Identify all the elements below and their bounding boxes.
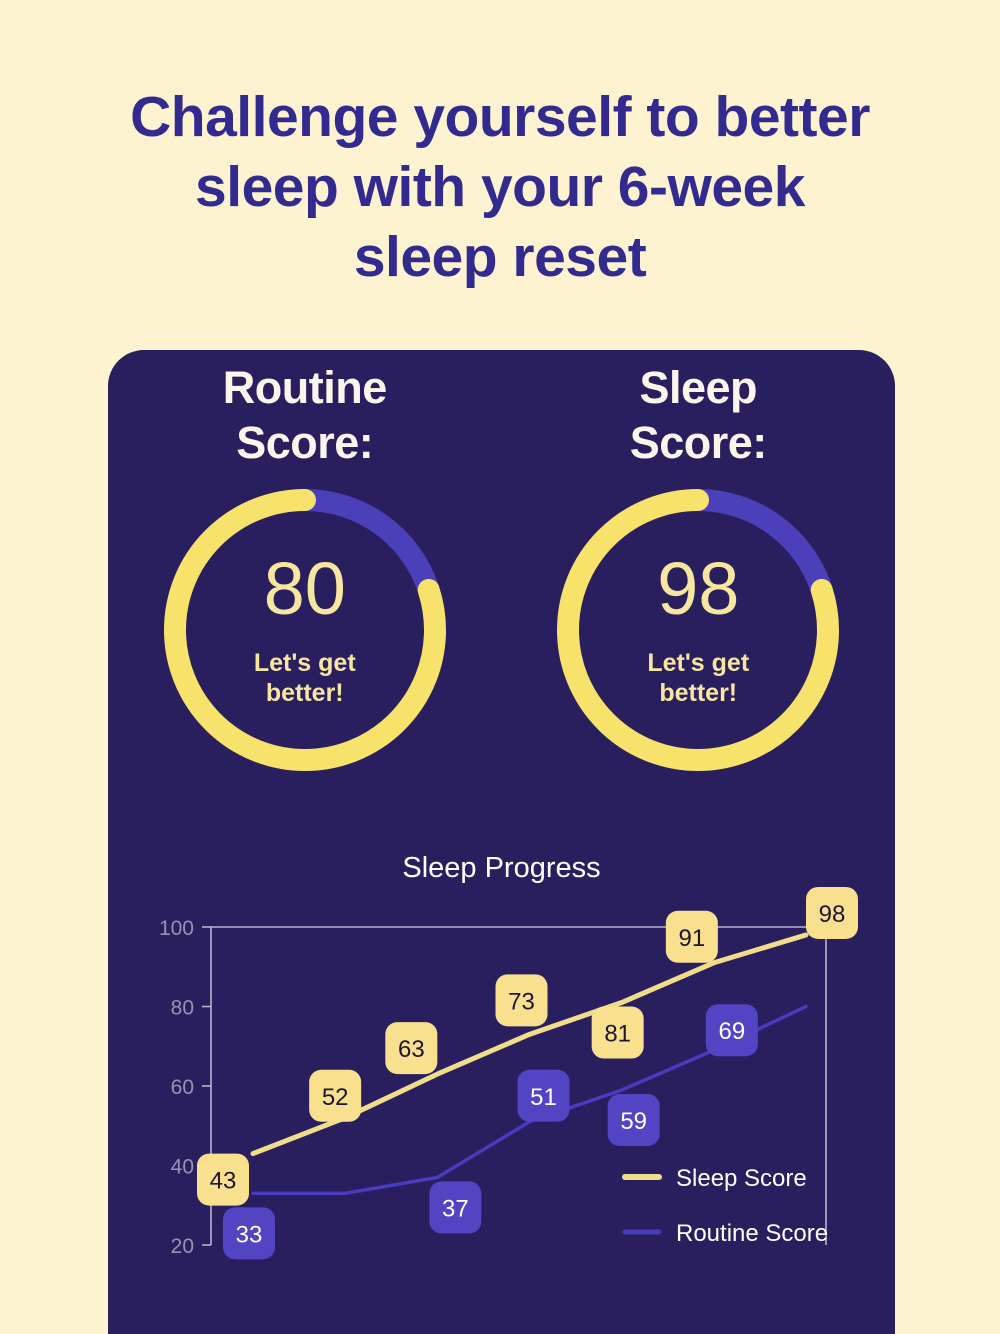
legend-item-sleep-score[interactable]: Sleep Score [625, 1165, 807, 1192]
routine-score-block: Routine Score: 80 Let's get better [108, 350, 502, 820]
svg-text:73: 73 [508, 988, 535, 1015]
svg-text:43: 43 [210, 1168, 237, 1195]
sleep-score-block: Sleep Score: 98 Let's get better! [502, 350, 896, 820]
svg-text:52: 52 [322, 1084, 349, 1111]
headline-line-1: Challenge yourself to better [28, 82, 972, 152]
sleep-score-title-line-2: Score: [630, 417, 767, 468]
sleep-score-caption: Let's get better! [647, 648, 749, 708]
routine-score-caption: Let's get better! [254, 648, 356, 708]
routine-score-title-line-2: Score: [236, 417, 373, 468]
sleep-score-value: 98 [657, 552, 739, 626]
headline-line-2: sleep with your 6-week [28, 152, 972, 222]
scores-card: Routine Score: 80 Let's get better [108, 350, 895, 1334]
sleep-score-data-label: 63 [385, 1022, 437, 1074]
y-tick-label: 60 [171, 1076, 194, 1099]
svg-text:91: 91 [678, 925, 705, 952]
svg-text:37: 37 [442, 1195, 469, 1222]
routine-score-data-label: 69 [706, 1004, 758, 1056]
page-title: Challenge yourself to better sleep with … [0, 82, 1000, 292]
sleep-score-data-label: 43 [197, 1154, 249, 1206]
y-tick-label: 40 [171, 1156, 194, 1179]
sleep-score-caption-line-2: better! [659, 679, 737, 707]
svg-text:63: 63 [398, 1036, 425, 1063]
svg-text:33: 33 [236, 1221, 263, 1248]
sleep-progress-chart: Sleep Progress 1008060402043526373819198… [108, 820, 895, 1334]
sleep-score-data-label: 91 [666, 911, 718, 963]
svg-text:81: 81 [604, 1021, 631, 1048]
legend-label: Sleep Score [676, 1165, 807, 1192]
routine-score-data-label: 33 [223, 1207, 275, 1259]
promo-page: Challenge yourself to better sleep with … [0, 0, 1000, 1334]
routine-score-value: 80 [264, 552, 346, 626]
sleep-gauge-center: 98 Let's get better! [552, 484, 844, 776]
sleep-score-caption-line-1: Let's get [647, 649, 749, 677]
routine-score-data-label: 59 [608, 1094, 660, 1146]
y-tick-label: 20 [171, 1235, 194, 1258]
sleep-score-data-label: 98 [806, 887, 858, 939]
y-tick-label: 100 [159, 917, 194, 940]
svg-text:98: 98 [819, 901, 846, 928]
sleep-score-gauge: 98 Let's get better! [552, 484, 844, 776]
routine-score-gauge: 80 Let's get better! [159, 484, 451, 776]
headline-line-3: sleep reset [28, 222, 972, 292]
y-tick-label: 80 [171, 997, 194, 1020]
legend-item-routine-score[interactable]: Routine Score [625, 1220, 828, 1247]
routine-score-title: Routine Score: [223, 360, 387, 470]
svg-text:51: 51 [530, 1084, 557, 1111]
sleep-score-title-line-1: Sleep [639, 362, 757, 413]
sleep-score-title: Sleep Score: [630, 360, 767, 470]
svg-text:69: 69 [718, 1018, 745, 1045]
score-rings: Routine Score: 80 Let's get better [108, 350, 895, 820]
sleep-score-data-label: 73 [496, 974, 548, 1026]
chart-canvas: 10080604020435263738191983337515969Sleep… [108, 820, 895, 1334]
routine-score-data-label: 37 [429, 1181, 481, 1233]
sleep-score-data-label: 81 [592, 1007, 644, 1059]
routine-score-caption-line-2: better! [266, 679, 344, 707]
routine-score-caption-line-1: Let's get [254, 649, 356, 677]
svg-text:59: 59 [620, 1108, 647, 1135]
routine-score-data-label: 51 [518, 1070, 570, 1122]
routine-score-title-line-1: Routine [223, 362, 387, 413]
legend-label: Routine Score [676, 1220, 828, 1247]
routine-gauge-center: 80 Let's get better! [159, 484, 451, 776]
sleep-score-data-label: 52 [309, 1070, 361, 1122]
